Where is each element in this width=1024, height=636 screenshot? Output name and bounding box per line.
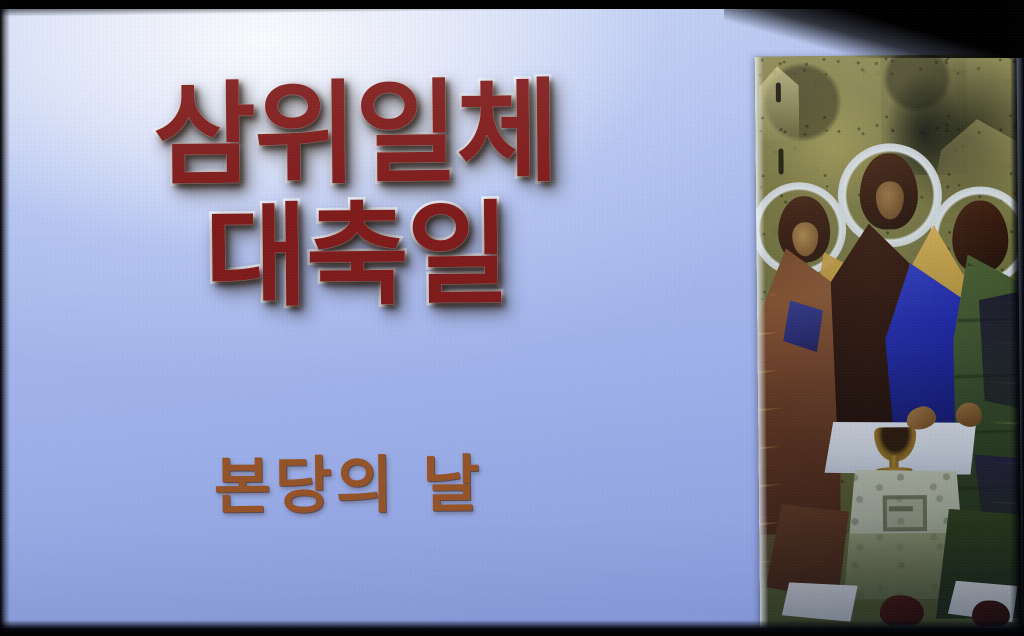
- icon-altar-niche-bar: [889, 506, 913, 511]
- slide-title-line-1: 삼위일체: [0, 75, 716, 194]
- icon-altar-niche: [883, 495, 927, 531]
- slide-subtitle: 본당의 날: [0, 451, 699, 520]
- robe-angel-right-shadow: [979, 290, 1022, 410]
- slide-title-block: 삼위일체 대축일: [0, 75, 717, 316]
- foot-angel-right: [972, 600, 1010, 626]
- slide-title-line-2: 대축일: [0, 197, 717, 316]
- trinity-icon-image: [755, 54, 1022, 630]
- projected-slide-photo: 삼위일체 대축일 본당의 날: [0, 0, 1024, 636]
- foot-angel-left: [880, 595, 924, 625]
- icon-artwork-canvas: [755, 54, 1022, 630]
- presentation-slide: 삼위일체 대축일 본당의 날: [0, 0, 1024, 636]
